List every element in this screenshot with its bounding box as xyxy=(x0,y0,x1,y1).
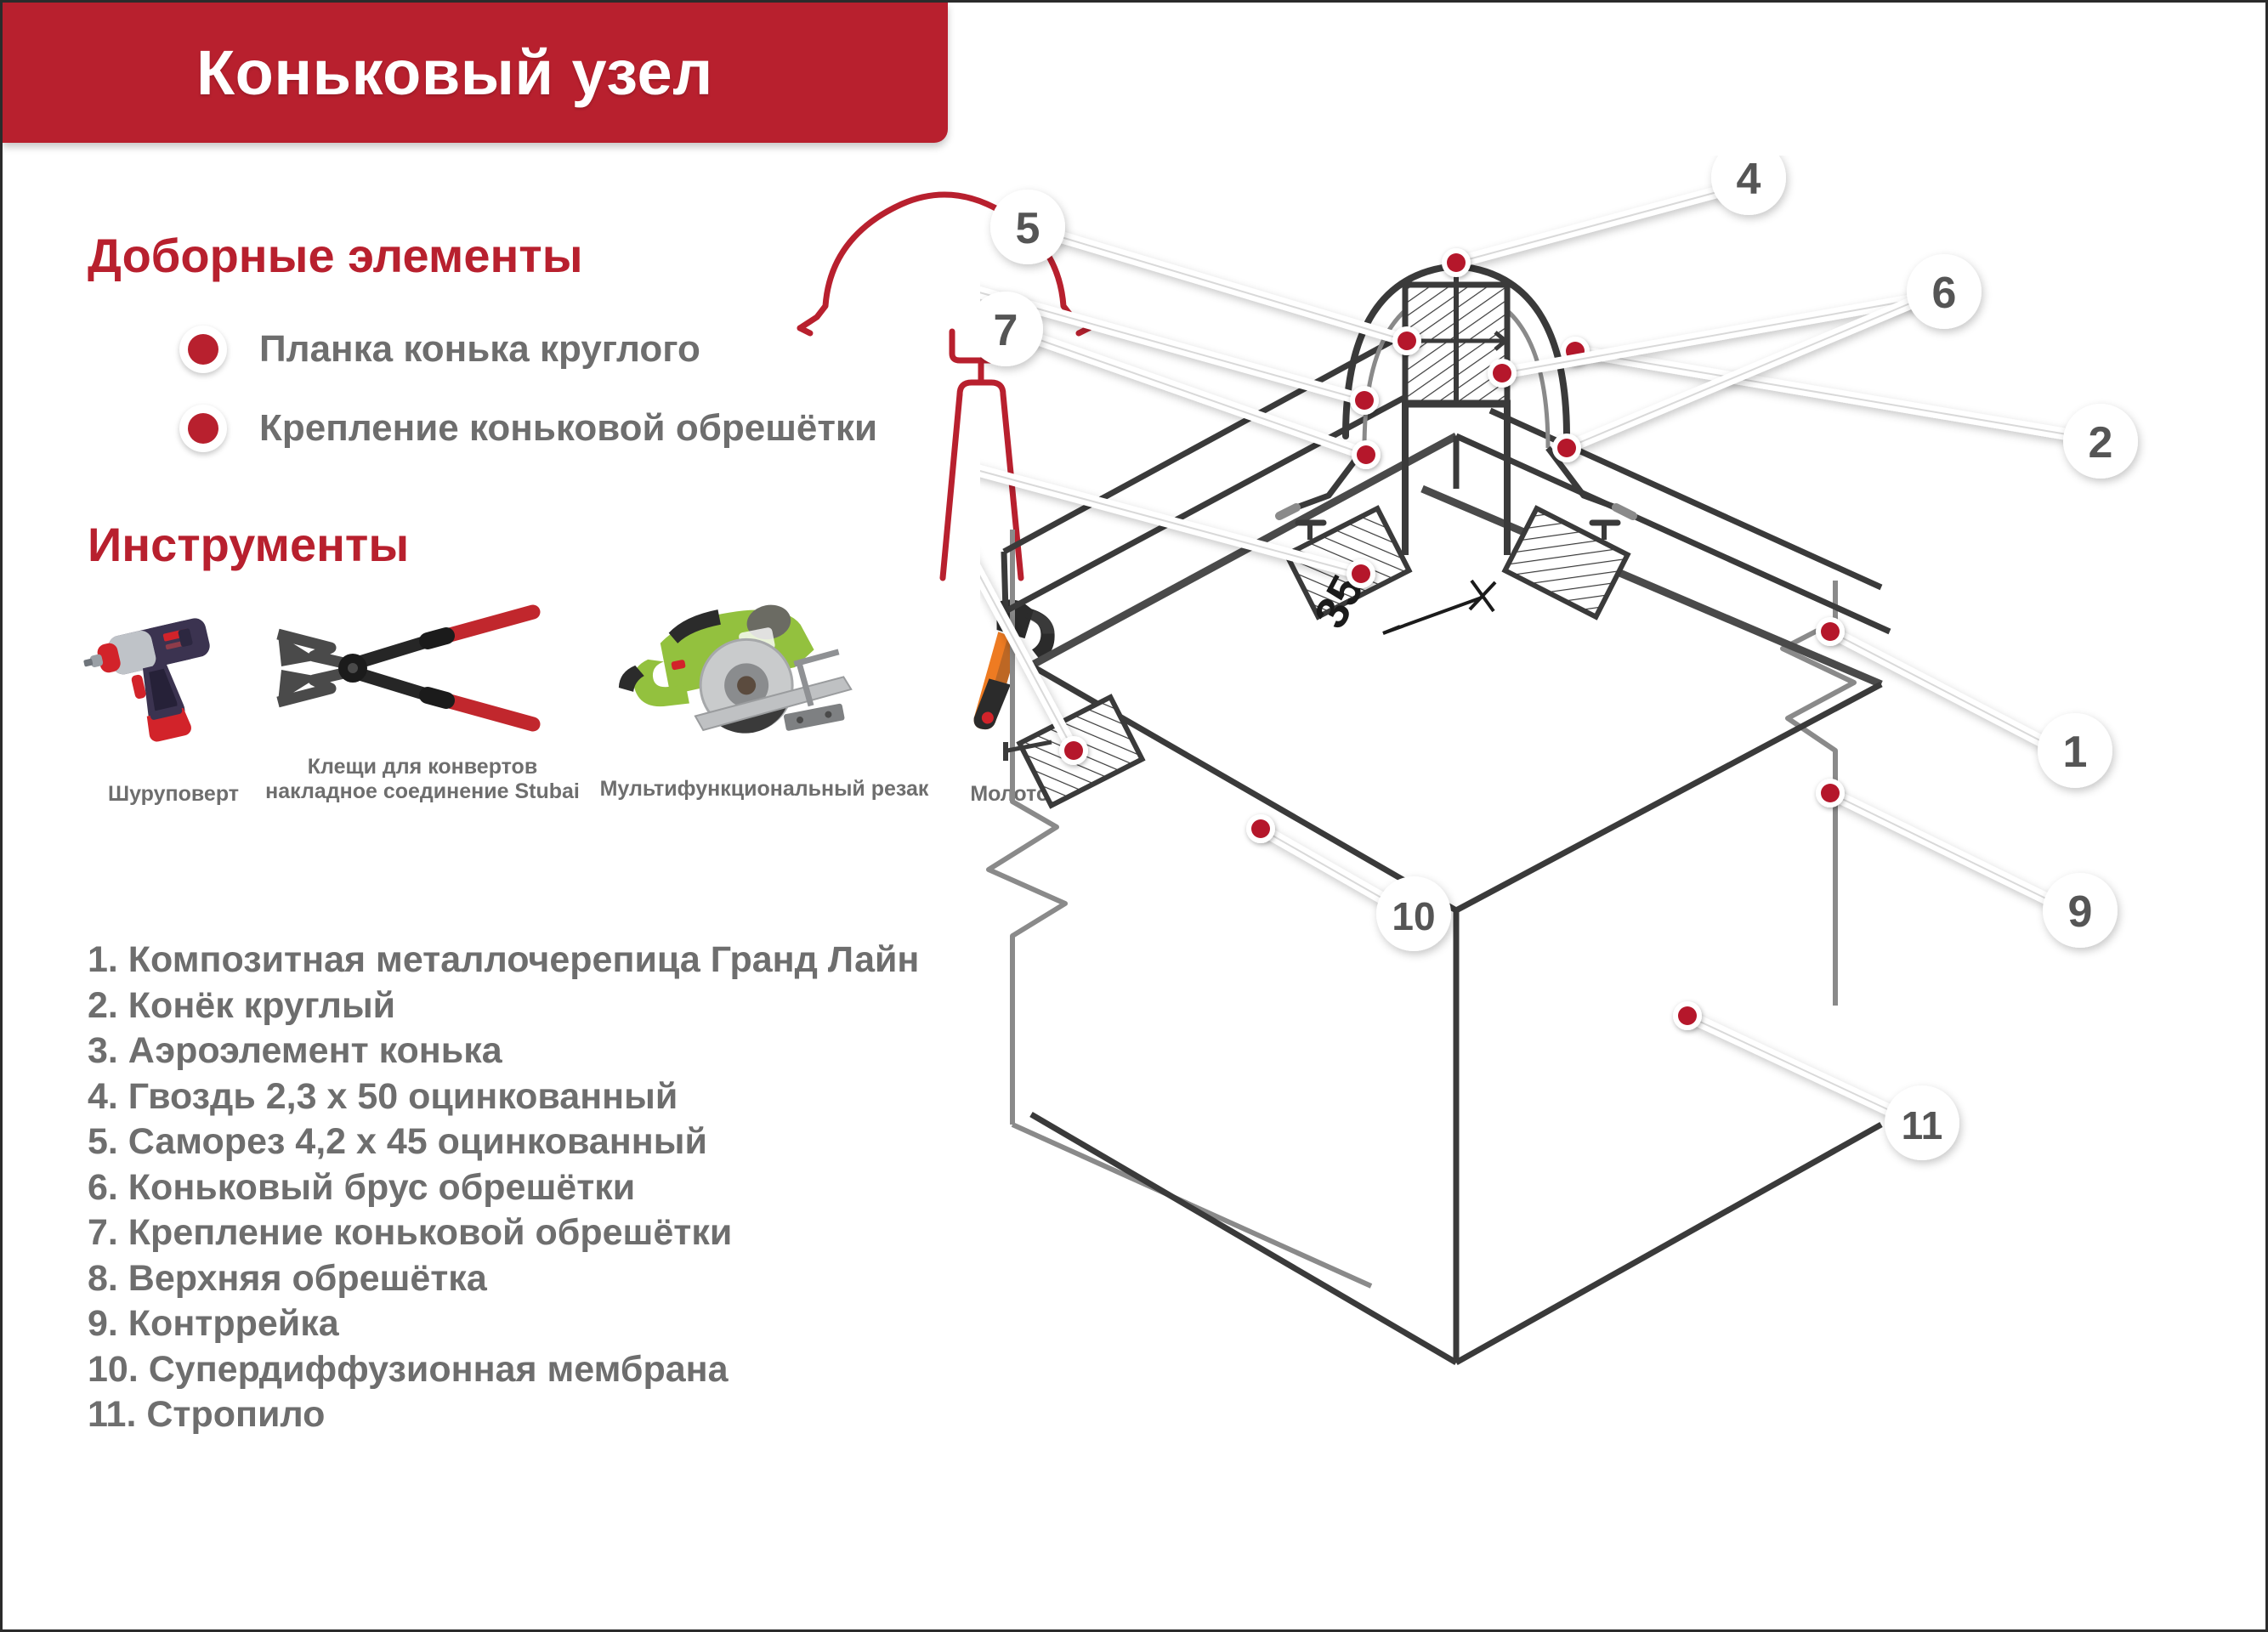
callout-1[interactable]: 1 xyxy=(2038,713,2112,788)
tool-item-2: Мультифункциональный резак xyxy=(586,593,943,802)
legend-item: 9. Контррейка xyxy=(88,1301,1074,1347)
callout-9[interactable]: 9 xyxy=(2043,873,2118,948)
tool-item-2-label: Мультифункциональный резак xyxy=(586,777,943,802)
callout-4-label: 4 xyxy=(1737,156,1761,204)
legend-item: 6. Коньковый брус обрешётки xyxy=(88,1165,1074,1211)
callout-7-label: 7 xyxy=(994,306,1018,355)
accessory-item-1-label: Крепление коньковой обрешётки xyxy=(259,407,877,450)
callout-4[interactable]: 4 xyxy=(1711,156,1786,215)
accessory-item-0-label: Планка конька круглого xyxy=(259,328,700,371)
bullet-dot-icon xyxy=(179,326,227,373)
ridge-assembly-drawing: 35 xyxy=(980,156,2264,1482)
callout-2[interactable]: 2 xyxy=(2063,404,2138,479)
legend-item: 1. Композитная металлочерепица Гранд Лай… xyxy=(88,938,1074,983)
legend-item: 11. Стропило xyxy=(88,1392,1074,1438)
tool-item-1-label: Клещи для конвертов накладное соединение… xyxy=(252,755,593,805)
legend-item: 8. Верхняя обрешётка xyxy=(88,1256,1074,1302)
accessory-item-1: Крепление коньковой обрешётки xyxy=(179,405,877,452)
callout-11-label: 11 xyxy=(1902,1103,1943,1147)
legend-item: 2. Конёк круглый xyxy=(88,983,1074,1029)
legend-item: 10. Супердиффузионная мембрана xyxy=(88,1347,1074,1393)
accessories-heading: Доборные элементы xyxy=(88,228,583,283)
bullet-dot-icon xyxy=(179,405,227,452)
seaming-pliers-icon xyxy=(252,593,593,746)
tool-item-0: Шуруповерт xyxy=(76,593,271,807)
callout-10-label: 10 xyxy=(1392,894,1435,938)
cordless-drill-icon xyxy=(76,593,271,746)
callout-2-label: 2 xyxy=(2089,418,2113,467)
callout-5-label: 5 xyxy=(1016,204,1040,253)
legend-item: 4. Гвоздь 2,3 x 50 оцинкованный xyxy=(88,1074,1074,1120)
callout-6[interactable]: 6 xyxy=(1907,254,1982,329)
legend-item: 5. Саморез 4,2 x 45 оцинкованный xyxy=(88,1119,1074,1165)
poster-page: Коньковый узел Доборные элементы Планка … xyxy=(0,0,2268,1632)
callout-1-label: 1 xyxy=(2063,728,2088,777)
callout-bubbles: 1 2 3 4 5 xyxy=(980,156,2138,1160)
ridge-detail xyxy=(1279,264,1633,555)
tool-item-0-label: Шуруповерт xyxy=(76,782,271,807)
house-body xyxy=(1031,666,1881,1363)
circular-saw-icon xyxy=(586,593,943,746)
callout-10[interactable]: 10 xyxy=(1376,876,1451,951)
accessory-item-0: Планка конька круглого xyxy=(179,326,700,373)
callout-9-label: 9 xyxy=(2068,887,2093,937)
callout-leaders xyxy=(980,190,2077,1114)
legend-item: 7. Крепление коньковой обрешётки xyxy=(88,1210,1074,1256)
legend-item: 3. Аэроэлемент конька xyxy=(88,1028,1074,1074)
callout-5[interactable]: 5 xyxy=(990,190,1065,264)
callout-6-label: 6 xyxy=(1932,269,1957,318)
header-banner: Коньковый узел xyxy=(3,3,948,143)
tools-heading: Инструменты xyxy=(88,517,409,572)
page-title: Коньковый узел xyxy=(196,37,713,109)
callout-11[interactable]: 11 xyxy=(1885,1085,1959,1160)
legend-list: 1. Композитная металлочерепица Гранд Лай… xyxy=(88,938,1074,1438)
tool-item-1: Клещи для конвертов накладное соединение… xyxy=(252,593,593,805)
